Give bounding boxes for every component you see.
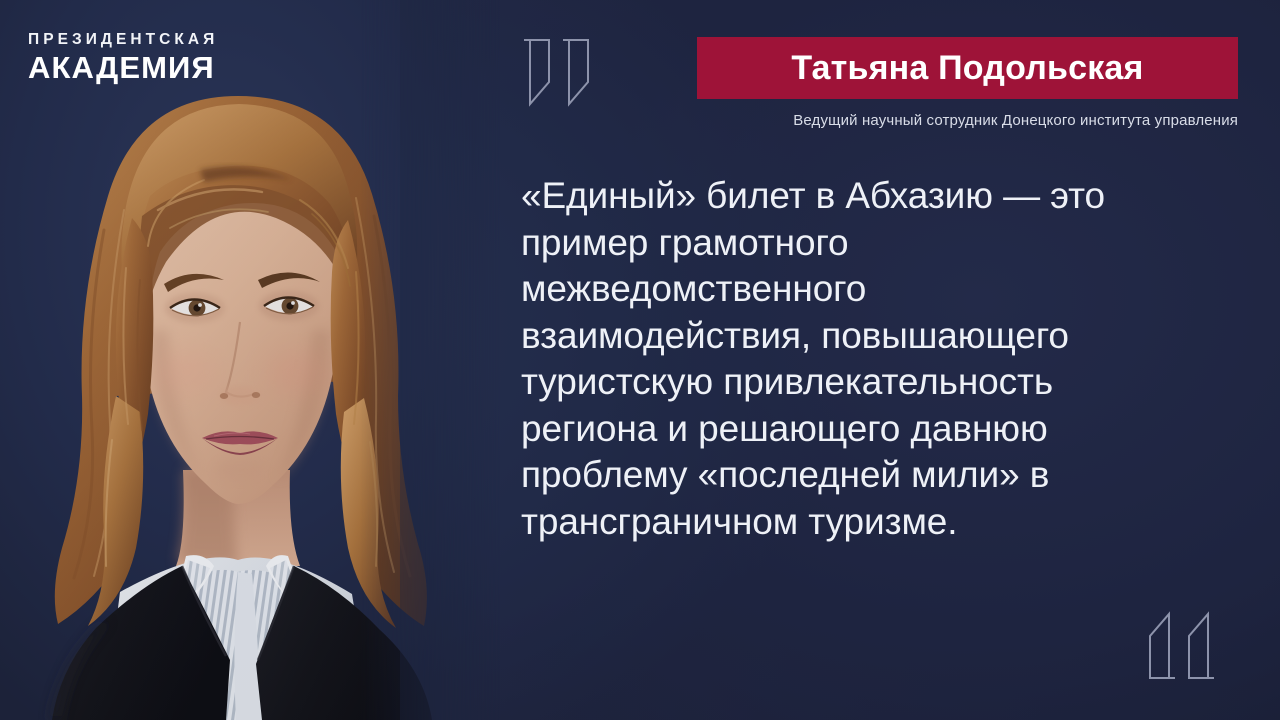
quote-line: взаимодействия, повышающего bbox=[521, 313, 1211, 360]
quote-text: «Единый» билет в Абхазию — это пример гр… bbox=[521, 173, 1211, 545]
quote-mark-open-icon bbox=[522, 38, 590, 106]
quote-mark-close-icon bbox=[1148, 612, 1216, 680]
speaker-name: Татьяна Подольская bbox=[791, 51, 1143, 85]
quote-line: межведомственного bbox=[521, 266, 1211, 313]
quote-card: ПРЕЗИДЕНТСКАЯ АКАДЕМИЯ Татьяна Подольска… bbox=[0, 0, 1280, 720]
portrait-photo bbox=[0, 0, 500, 720]
quote-line: трансграничном туризме. bbox=[521, 499, 1211, 546]
quote-line: «Единый» билет в Абхазию — это bbox=[521, 173, 1211, 220]
brand-logo: ПРЕЗИДЕНТСКАЯ АКАДЕМИЯ bbox=[28, 30, 288, 85]
quote-line: туристскую привлекательность bbox=[521, 359, 1211, 406]
brand-logo-line-1: ПРЕЗИДЕНТСКАЯ bbox=[28, 30, 288, 50]
speaker-name-badge: Татьяна Подольская bbox=[697, 37, 1238, 99]
brand-logo-line-2: АКАДЕМИЯ bbox=[28, 50, 288, 85]
quote-line: региона и решающего давнюю bbox=[521, 406, 1211, 453]
quote-line: пример грамотного bbox=[521, 220, 1211, 267]
speaker-role: Ведущий научный сотрудник Донецкого инст… bbox=[498, 111, 1238, 131]
quote-line: проблему «последней мили» в bbox=[521, 452, 1211, 499]
